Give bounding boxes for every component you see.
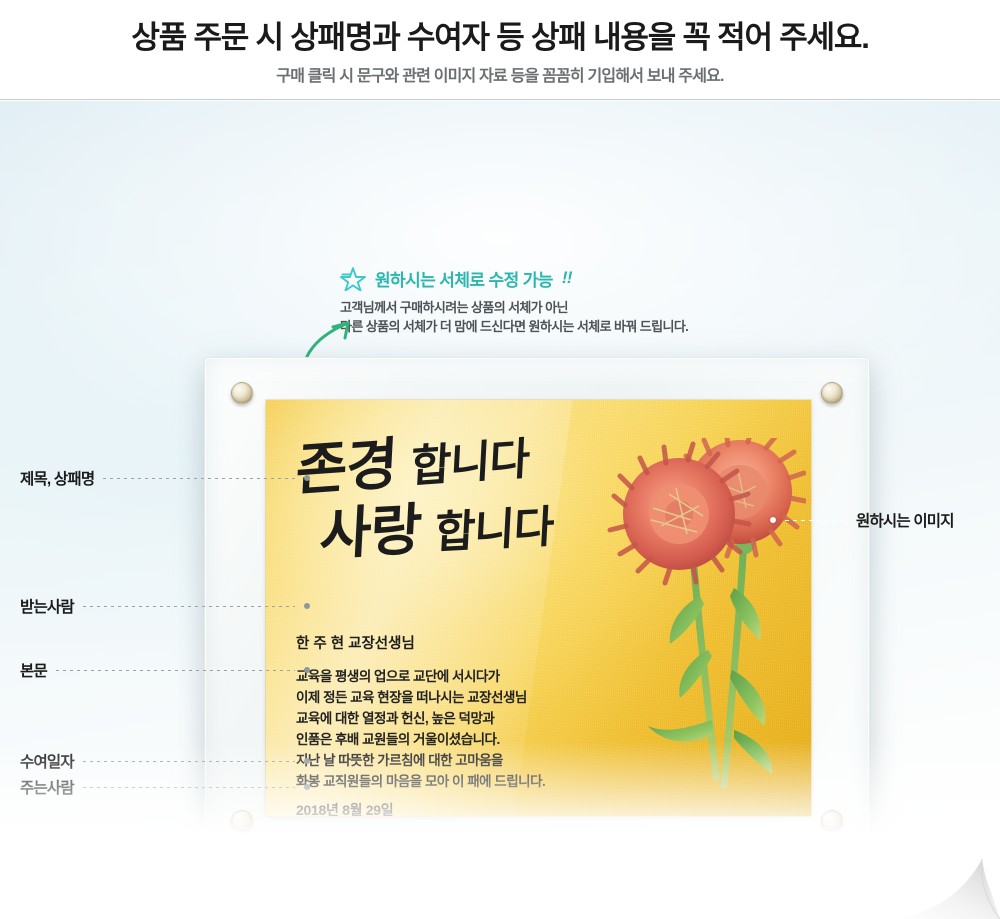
star-icon <box>340 265 366 291</box>
product-detail-page: 상품 주문 시 상패명과 수여자 등 상패 내용을 꼭 적어 주세요. 구매 클… <box>0 0 1000 919</box>
plaque-body-line: 교육을 평생의 업으로 교단에 서시다가 <box>296 666 545 687</box>
callout-image: 원하시는 이미지 <box>770 509 985 531</box>
leader-line <box>785 520 847 521</box>
page-subtitle: 구매 클릭 시 문구와 관련 이미지 자료 등을 꼼꼼히 기입해서 보내 주세요… <box>0 62 1000 86</box>
callout-image-label: 원하시는 이미지 <box>856 509 954 531</box>
page-title: 상품 주문 시 상패명과 수여자 등 상패 내용을 꼭 적어 주세요. <box>0 12 1000 57</box>
font-change-note-title: 원하시는 서체로 수정 가능 <box>375 266 553 291</box>
leader-line <box>103 478 295 479</box>
callout-recipient: 받는사람 <box>20 595 310 617</box>
callout-body-label: 본문 <box>20 659 47 681</box>
standoff-screw-top-left <box>231 382 253 404</box>
plaque-glass-highlight <box>205 358 869 384</box>
callout-body: 본문 <box>20 659 310 681</box>
plaque-recipient: 한 주 현 교장선생님 <box>296 632 415 653</box>
stage-bottom-fade <box>0 741 1000 862</box>
callout-recipient-label: 받는사람 <box>20 595 74 617</box>
callout-title-label: 제목, 상패명 <box>20 467 94 489</box>
font-change-note-line-1: 고객님께서 구매하시려는 상품의 서체가 아닌 <box>340 298 810 317</box>
plaque-title-line-2: 사랑 합니다 <box>318 477 556 571</box>
plaque-body-line: 교육에 대한 열정과 헌신, 높은 덕망과 <box>296 708 545 729</box>
font-change-note-line-2: 다른 상품의 서체가 더 맘에 드신다면 원하시는 서체로 바꿔 드립니다. <box>340 317 810 336</box>
leader-dot <box>304 603 310 609</box>
product-stage: 원하시는 서체로 수정 가능!! 고객님께서 구매하시려는 상품의 서체가 아닌… <box>0 101 1000 861</box>
plaque-title-line-2-emphasis: 사랑 <box>318 496 422 568</box>
font-change-note-heading: 원하시는 서체로 수정 가능!! <box>340 265 810 291</box>
font-change-note-exclaim: !! <box>562 268 572 288</box>
page-header: 상품 주문 시 상패명과 수여자 등 상패 내용을 꼭 적어 주세요. 구매 클… <box>0 0 1000 100</box>
leader-dot <box>770 517 776 523</box>
plaque-body-line: 이제 정든 교육 현장을 떠나시는 교장선생님 <box>296 687 545 708</box>
font-change-note-body: 고객님께서 구매하시려는 상품의 서체가 아닌 다른 상품의 서체가 더 맘에 … <box>340 298 810 336</box>
font-change-note: 원하시는 서체로 수정 가능!! 고객님께서 구매하시려는 상품의 서체가 아닌… <box>340 265 810 336</box>
leader-line <box>56 670 295 671</box>
page-bottom <box>0 858 1000 919</box>
leader-line <box>83 606 295 607</box>
standoff-screw-top-right <box>821 382 843 404</box>
plaque-title-line-2-rest: 합니다 <box>434 502 555 559</box>
leader-dot <box>304 475 310 481</box>
callout-title: 제목, 상패명 <box>20 467 310 489</box>
plaque-title-calligraphy: 존경 합니다 사랑 합니다 <box>294 426 624 566</box>
leader-dot <box>304 667 310 673</box>
